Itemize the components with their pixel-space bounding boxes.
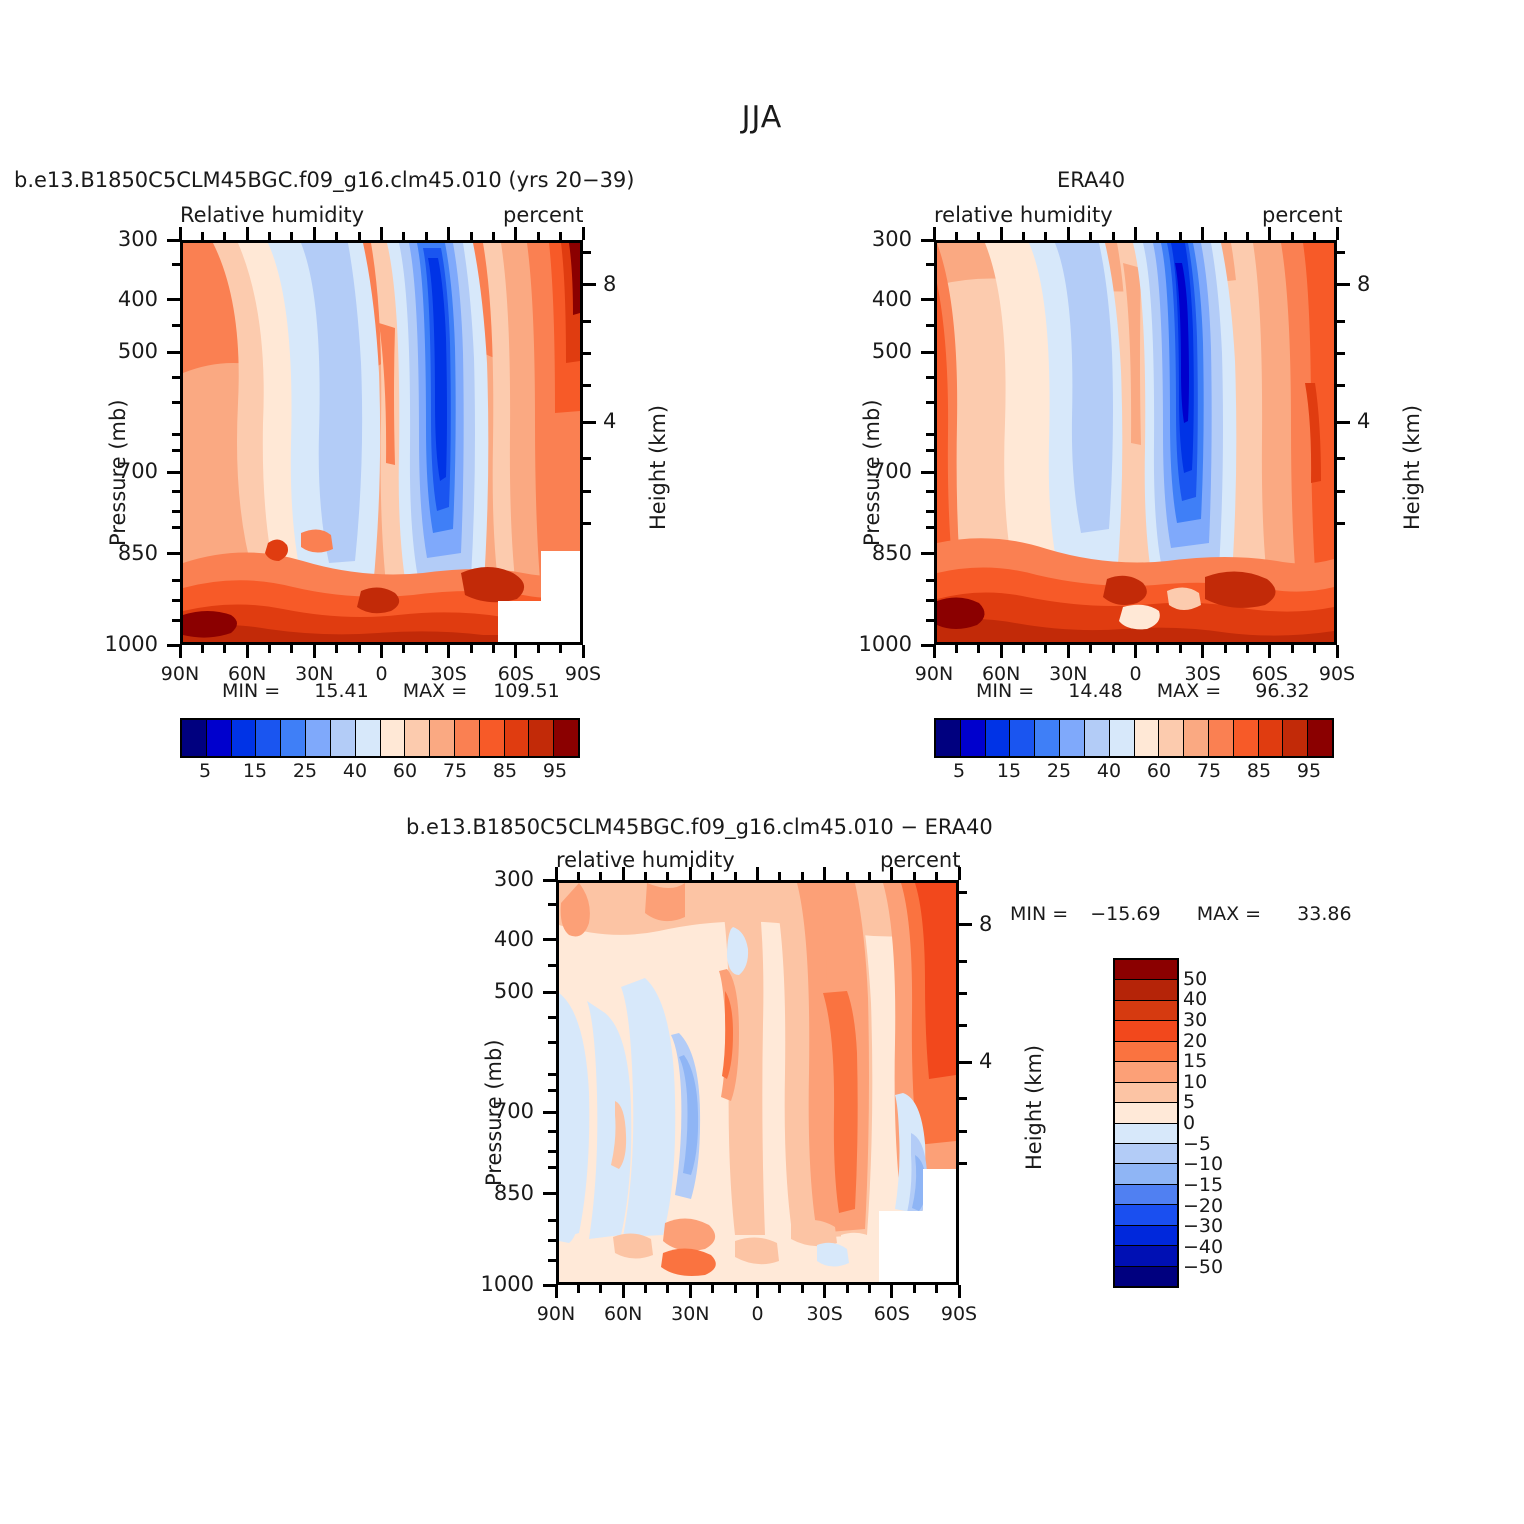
diff-colorbar-tick-label: −5 bbox=[1183, 1133, 1211, 1155]
diff-xtick-minor bbox=[778, 872, 781, 880]
obs-ytick-minor bbox=[926, 510, 934, 513]
obs-contour-field bbox=[937, 243, 1334, 642]
model-plot-area bbox=[180, 240, 583, 645]
model-ytick-minor bbox=[172, 449, 180, 452]
diff-ytick-minor bbox=[548, 1219, 556, 1222]
obs-xtick-major bbox=[1201, 227, 1204, 240]
model-xtick-major bbox=[514, 645, 517, 658]
obs-xtick-minor bbox=[1246, 645, 1249, 653]
model-xtick-minor bbox=[223, 645, 226, 653]
obs-colorbar-swatch bbox=[1085, 720, 1110, 756]
model-xtick-minor bbox=[268, 232, 271, 240]
model-xtick-major bbox=[514, 227, 517, 240]
model-xtick-minor bbox=[268, 645, 271, 653]
diff-xtick-major bbox=[958, 1285, 961, 1298]
model-xtick-minor bbox=[201, 645, 204, 653]
diff-ytick-label: 1000 bbox=[446, 1272, 534, 1296]
diff-xtick-minor bbox=[734, 1285, 737, 1293]
obs-ytick-major bbox=[921, 644, 934, 647]
diff-ytick-major bbox=[543, 938, 556, 941]
obs-y2tick-minor bbox=[1337, 457, 1345, 460]
obs-ytick-label: 400 bbox=[824, 287, 912, 311]
model-xtick-minor bbox=[537, 232, 540, 240]
diff-y2tick-minor bbox=[959, 992, 967, 995]
obs-y2tick bbox=[1337, 421, 1350, 424]
model-colorbar-swatch bbox=[554, 720, 578, 756]
diff-max-label: MAX = bbox=[1197, 903, 1261, 925]
diff-colorbar-swatch bbox=[1115, 1226, 1177, 1246]
obs-xtick-major bbox=[1000, 645, 1003, 658]
diff-xtick-minor bbox=[599, 1285, 602, 1293]
obs-xtick-minor bbox=[1156, 232, 1159, 240]
obs-xtick-minor bbox=[1112, 232, 1115, 240]
obs-colorbar-swatch bbox=[1110, 720, 1135, 756]
diff-xtick-minor bbox=[913, 1285, 916, 1293]
obs-xtick-minor bbox=[977, 232, 980, 240]
obs-ytick-minor bbox=[926, 526, 934, 529]
diff-y2tick-label: 8 bbox=[979, 912, 992, 936]
obs-ytick-major bbox=[921, 351, 934, 354]
diff-ytick-minor bbox=[548, 1089, 556, 1092]
obs-xtick-major bbox=[1268, 645, 1271, 658]
model-colorbar-swatch bbox=[480, 720, 505, 756]
model-ytick-minor bbox=[172, 263, 180, 266]
obs-units-label: percent bbox=[1262, 203, 1342, 227]
obs-ytick-label: 700 bbox=[824, 459, 912, 483]
obs-colorbar-swatch bbox=[1308, 720, 1332, 756]
obs-colorbar-tick-label: 5 bbox=[953, 760, 965, 782]
model-ytick-label: 400 bbox=[70, 287, 158, 311]
model-ytick-minor bbox=[172, 579, 180, 582]
obs-ytick-minor bbox=[926, 324, 934, 327]
diff-ytick-major bbox=[543, 1284, 556, 1287]
model-colorbar[interactable] bbox=[180, 718, 580, 758]
model-ytick-minor bbox=[172, 376, 180, 379]
model-ytick-minor bbox=[172, 401, 180, 404]
diff-xtick-minor bbox=[666, 872, 669, 880]
model-xtick-major bbox=[447, 227, 450, 240]
model-ytick-major bbox=[167, 298, 180, 301]
model-colorbar-tick-label: 85 bbox=[493, 760, 517, 782]
model-xtick-major bbox=[380, 227, 383, 240]
model-ytick-minor bbox=[172, 526, 180, 529]
model-xtick-minor bbox=[470, 232, 473, 240]
diff-ytick-minor bbox=[548, 1073, 556, 1076]
model-colorbar-swatch bbox=[455, 720, 480, 756]
diff-xtick-minor bbox=[577, 1285, 580, 1293]
obs-y2tick-label: 4 bbox=[1357, 409, 1370, 433]
diff-colorbar-tick-label: 30 bbox=[1183, 1009, 1207, 1031]
obs-variable-label: relative humidity bbox=[934, 203, 1113, 227]
model-ytick-major bbox=[167, 351, 180, 354]
model-ytick-major bbox=[167, 239, 180, 242]
model-xtick-minor bbox=[402, 232, 405, 240]
model-colorbar-swatch bbox=[381, 720, 406, 756]
model-ytick-label: 850 bbox=[70, 541, 158, 565]
model-xtick-minor bbox=[537, 645, 540, 653]
diff-colorbar-swatch bbox=[1115, 980, 1177, 1000]
obs-xtick-major bbox=[1336, 645, 1339, 658]
obs-xtick-major bbox=[1000, 227, 1003, 240]
diff-plot-area bbox=[556, 880, 959, 1285]
diff-y2tick-minor bbox=[959, 960, 967, 963]
obs-y2tick-minor bbox=[1337, 352, 1345, 355]
model-ytick-major bbox=[167, 471, 180, 474]
diff-colorbar-tick-label: 40 bbox=[1183, 988, 1207, 1010]
diff-xtick-major bbox=[689, 867, 692, 880]
obs-ytick-minor bbox=[926, 490, 934, 493]
model-ytick-major bbox=[167, 552, 180, 555]
diff-y2tick bbox=[959, 1061, 972, 1064]
diff-xtick-major bbox=[756, 867, 759, 880]
model-colorbar-tick-label: 15 bbox=[243, 760, 267, 782]
diff-ytick-minor bbox=[548, 1150, 556, 1153]
diff-colorbar-labels: 50403020151050−5−10−15−20−30−40−50 bbox=[1183, 958, 1263, 1284]
model-xtick-minor bbox=[358, 232, 361, 240]
model-xtick-major bbox=[447, 645, 450, 658]
diff-colorbar-swatch bbox=[1115, 1042, 1177, 1062]
diff-y2tick bbox=[959, 923, 972, 926]
model-xtick-minor bbox=[290, 232, 293, 240]
diff-colorbar-swatch bbox=[1115, 1246, 1177, 1266]
obs-xtick-minor bbox=[1313, 232, 1316, 240]
diff-colorbar-swatch bbox=[1115, 1185, 1177, 1205]
model-xtick-minor bbox=[201, 232, 204, 240]
diff-ytick-minor bbox=[548, 1259, 556, 1262]
model-y2tick-minor bbox=[583, 320, 591, 323]
obs-xtick-minor bbox=[1291, 232, 1294, 240]
model-y2tick-label: 8 bbox=[603, 272, 616, 296]
model-xtick-major bbox=[246, 227, 249, 240]
diff-y2tick-minor bbox=[959, 1130, 967, 1133]
model-y2tick-minor bbox=[583, 457, 591, 460]
diff-ytick-minor bbox=[548, 964, 556, 967]
diff-ytick-minor bbox=[548, 1239, 556, 1242]
model-colorbar-swatch bbox=[232, 720, 257, 756]
obs-ytick-major bbox=[921, 239, 934, 242]
model-colorbar-swatch bbox=[430, 720, 455, 756]
obs-xtick-minor bbox=[1156, 645, 1159, 653]
model-xtick-major bbox=[179, 645, 182, 658]
diff-xtick-minor bbox=[599, 872, 602, 880]
diff-colorbar-tick-label: −15 bbox=[1183, 1174, 1223, 1196]
model-ytick-label: 500 bbox=[70, 339, 158, 363]
diff-y2tick-minor bbox=[959, 1162, 967, 1165]
diff-xtick-minor bbox=[846, 1285, 849, 1293]
model-ytick-major bbox=[167, 644, 180, 647]
diff-ytick-major bbox=[543, 991, 556, 994]
obs-xtick-minor bbox=[1179, 645, 1182, 653]
model-y2tick-minor bbox=[583, 251, 591, 254]
diff-minmax: MIN = −15.69 MAX = 33.86 bbox=[1010, 903, 1352, 925]
obs-xtick-minor bbox=[1044, 232, 1047, 240]
model-ytick-label: 1000 bbox=[70, 632, 158, 656]
model-colorbar-swatch bbox=[356, 720, 381, 756]
diff-colorbar-tick-label: −10 bbox=[1183, 1153, 1223, 1175]
model-ytick-minor bbox=[172, 599, 180, 602]
obs-ytick-major bbox=[921, 471, 934, 474]
model-panel-title: b.e13.B1850C5CLM45BGC.f09_g16.clm45.010 … bbox=[14, 168, 634, 192]
model-y2-axis-title: Height (km) bbox=[646, 405, 670, 530]
obs-xtick-major bbox=[933, 645, 936, 658]
model-y2tick-label: 4 bbox=[603, 409, 616, 433]
model-xtick-minor bbox=[559, 232, 562, 240]
diff-colorbar-tick-label: −50 bbox=[1183, 1256, 1223, 1278]
diff-xtick-minor bbox=[644, 1285, 647, 1293]
model-colorbar-labels: 515254060758595 bbox=[180, 760, 580, 786]
obs-y2tick-minor bbox=[1337, 490, 1345, 493]
obs-xtick-minor bbox=[1089, 232, 1092, 240]
diff-xtick-minor bbox=[868, 872, 871, 880]
obs-xtick-minor bbox=[1224, 232, 1227, 240]
diff-xtick-major bbox=[756, 1285, 759, 1298]
diff-ytick-major bbox=[543, 1111, 556, 1114]
diff-colorbar-swatch bbox=[1115, 1083, 1177, 1103]
diff-ytick-label: 400 bbox=[446, 927, 534, 951]
model-colorbar-swatch bbox=[281, 720, 306, 756]
model-colorbar-swatch bbox=[306, 720, 331, 756]
model-ytick-minor bbox=[172, 619, 180, 622]
model-xtick-minor bbox=[402, 645, 405, 653]
diff-panel-title: b.e13.B1850C5CLM45BGC.f09_g16.clm45.010 … bbox=[406, 815, 993, 839]
obs-y2tick bbox=[1337, 283, 1350, 286]
model-xtick-major bbox=[582, 227, 585, 240]
diff-ytick-label: 300 bbox=[446, 867, 534, 891]
model-xtick-major bbox=[582, 645, 585, 658]
diff-y2tick-minor bbox=[959, 1097, 967, 1100]
obs-colorbar-swatch bbox=[1209, 720, 1234, 756]
obs-ytick-label: 1000 bbox=[824, 632, 912, 656]
obs-ytick-label: 500 bbox=[824, 339, 912, 363]
diff-y2tick-label: 4 bbox=[979, 1049, 992, 1073]
model-colorbar-tick-label: 75 bbox=[443, 760, 467, 782]
diff-xtick-major bbox=[823, 867, 826, 880]
diff-colorbar-tick-label: 5 bbox=[1183, 1091, 1195, 1113]
diff-colorbar-tick-label: −20 bbox=[1183, 1195, 1223, 1217]
diff-y2tick-minor bbox=[959, 1024, 967, 1027]
obs-colorbar-tick-label: 60 bbox=[1147, 760, 1171, 782]
obs-ytick-label: 300 bbox=[824, 227, 912, 251]
diff-xtick-major bbox=[689, 1285, 692, 1298]
obs-plot-area bbox=[934, 240, 1337, 645]
diff-min-value: −15.69 bbox=[1090, 903, 1160, 925]
diff-colorbar-swatch bbox=[1115, 1062, 1177, 1082]
obs-ytick-label: 850 bbox=[824, 541, 912, 565]
obs-xtick-minor bbox=[1022, 232, 1025, 240]
obs-ytick-minor bbox=[926, 619, 934, 622]
diff-colorbar-swatch bbox=[1115, 1144, 1177, 1164]
model-xtick-minor bbox=[559, 645, 562, 653]
model-y2tick-minor bbox=[583, 352, 591, 355]
model-colorbar-tick-label: 5 bbox=[199, 760, 211, 782]
obs-xtick-label: 90S bbox=[1297, 663, 1377, 685]
diff-xtick-major bbox=[890, 1285, 893, 1298]
model-y2tick bbox=[583, 283, 596, 286]
obs-xtick-minor bbox=[1246, 232, 1249, 240]
model-xtick-minor bbox=[335, 232, 338, 240]
obs-colorbar-swatch bbox=[1060, 720, 1085, 756]
diff-ytick-minor bbox=[548, 1166, 556, 1169]
model-xtick-minor bbox=[470, 645, 473, 653]
model-colorbar-swatch bbox=[256, 720, 281, 756]
diff-xtick-minor bbox=[734, 872, 737, 880]
diff-xtick-minor bbox=[935, 1285, 938, 1293]
obs-colorbar-tick-label: 25 bbox=[1047, 760, 1071, 782]
diff-min-label: MIN = bbox=[1010, 903, 1068, 925]
model-colorbar-tick-label: 25 bbox=[293, 760, 317, 782]
model-y2tick-minor bbox=[583, 490, 591, 493]
model-units-label: percent bbox=[503, 203, 583, 227]
model-colorbar-swatch bbox=[182, 720, 207, 756]
diff-xtick-major bbox=[622, 867, 625, 880]
obs-ytick-minor bbox=[926, 599, 934, 602]
model-contour-field bbox=[183, 243, 580, 642]
diff-colorbar[interactable] bbox=[1113, 958, 1179, 1288]
obs-xtick-minor bbox=[1044, 645, 1047, 653]
diff-xtick-minor bbox=[846, 872, 849, 880]
diff-ytick-minor bbox=[548, 1041, 556, 1044]
obs-colorbar-tick-label: 40 bbox=[1097, 760, 1121, 782]
obs-colorbar-labels: 515254060758595 bbox=[934, 760, 1334, 786]
diff-colorbar-swatch bbox=[1115, 1103, 1177, 1123]
model-xtick-minor bbox=[290, 645, 293, 653]
model-ytick-label: 300 bbox=[70, 227, 158, 251]
obs-colorbar-tick-label: 15 bbox=[997, 760, 1021, 782]
obs-colorbar-swatch bbox=[1035, 720, 1060, 756]
model-xtick-minor bbox=[425, 232, 428, 240]
diff-xtick-minor bbox=[778, 1285, 781, 1293]
diff-ytick-major bbox=[543, 879, 556, 882]
model-y2tick-minor bbox=[583, 384, 591, 387]
obs-xtick-minor bbox=[1089, 645, 1092, 653]
diff-xtick-minor bbox=[666, 1285, 669, 1293]
diff-colorbar-tick-label: 0 bbox=[1183, 1112, 1195, 1134]
diff-xtick-minor bbox=[801, 872, 804, 880]
model-ytick-label: 700 bbox=[70, 459, 158, 483]
obs-colorbar-swatch bbox=[1259, 720, 1284, 756]
season-title: JJA bbox=[0, 100, 1524, 135]
diff-y2tick-minor bbox=[959, 891, 967, 894]
model-xtick-minor bbox=[425, 645, 428, 653]
obs-colorbar-swatch bbox=[1234, 720, 1259, 756]
diff-ytick-minor bbox=[548, 903, 556, 906]
model-y2tick-minor bbox=[583, 522, 591, 525]
model-colorbar-tick-label: 40 bbox=[343, 760, 367, 782]
diff-ytick-label: 700 bbox=[446, 1099, 534, 1123]
obs-ytick-minor bbox=[926, 579, 934, 582]
obs-ytick-minor bbox=[926, 376, 934, 379]
obs-xtick-major bbox=[1268, 227, 1271, 240]
diff-xtick-minor bbox=[935, 872, 938, 880]
obs-y2tick-minor bbox=[1337, 522, 1345, 525]
obs-y2-axis-title: Height (km) bbox=[1400, 405, 1424, 530]
model-xtick-major bbox=[313, 645, 316, 658]
diff-colorbar-tick-label: 50 bbox=[1183, 968, 1207, 990]
model-xtick-minor bbox=[492, 645, 495, 653]
obs-xtick-major bbox=[1134, 227, 1137, 240]
obs-colorbar-swatch bbox=[1159, 720, 1184, 756]
model-xtick-minor bbox=[492, 232, 495, 240]
obs-colorbar-swatch bbox=[1184, 720, 1209, 756]
obs-colorbar-tick-label: 85 bbox=[1247, 760, 1271, 782]
obs-xtick-minor bbox=[955, 232, 958, 240]
diff-xtick-minor bbox=[577, 872, 580, 880]
diff-colorbar-swatch bbox=[1115, 1205, 1177, 1225]
model-xtick-label: 90S bbox=[543, 663, 623, 685]
diff-ytick-label: 850 bbox=[446, 1181, 534, 1205]
obs-colorbar-swatch bbox=[936, 720, 961, 756]
model-xtick-major bbox=[313, 227, 316, 240]
diff-colorbar-swatch bbox=[1115, 1001, 1177, 1021]
diff-xtick-label: 90S bbox=[919, 1303, 999, 1325]
diff-xtick-major bbox=[890, 867, 893, 880]
model-xtick-major bbox=[380, 645, 383, 658]
diff-xtick-minor bbox=[644, 872, 647, 880]
obs-ytick-major bbox=[921, 552, 934, 555]
obs-xtick-minor bbox=[1291, 645, 1294, 653]
diff-ytick-minor bbox=[548, 1016, 556, 1019]
diff-y2-axis-title: Height (km) bbox=[1022, 1045, 1046, 1170]
model-colorbar-swatch bbox=[529, 720, 554, 756]
obs-xtick-major bbox=[1067, 227, 1070, 240]
model-ytick-minor bbox=[172, 490, 180, 493]
diff-colorbar-swatch bbox=[1115, 1267, 1177, 1286]
obs-xtick-minor bbox=[955, 645, 958, 653]
model-xtick-minor bbox=[358, 645, 361, 653]
obs-xtick-minor bbox=[977, 645, 980, 653]
obs-ytick-major bbox=[921, 298, 934, 301]
model-xtick-minor bbox=[223, 232, 226, 240]
obs-colorbar[interactable] bbox=[934, 718, 1334, 758]
obs-panel-title: ERA40 bbox=[1057, 168, 1125, 192]
model-xtick-minor bbox=[335, 645, 338, 653]
diff-colorbar-tick-label: 20 bbox=[1183, 1030, 1207, 1052]
obs-colorbar-swatch bbox=[986, 720, 1011, 756]
diff-colorbar-swatch bbox=[1115, 1021, 1177, 1041]
diff-contour-field bbox=[559, 883, 956, 1282]
model-ytick-minor bbox=[172, 510, 180, 513]
obs-colorbar-swatch bbox=[961, 720, 986, 756]
diff-xtick-minor bbox=[913, 872, 916, 880]
obs-y2tick-label: 8 bbox=[1357, 272, 1370, 296]
diff-colorbar-tick-label: 10 bbox=[1183, 1071, 1207, 1093]
obs-xtick-major bbox=[1067, 645, 1070, 658]
model-colorbar-swatch bbox=[505, 720, 530, 756]
obs-ytick-minor bbox=[926, 449, 934, 452]
diff-colorbar-tick-label: −40 bbox=[1183, 1236, 1223, 1258]
model-y2tick bbox=[583, 421, 596, 424]
obs-xtick-major bbox=[1201, 645, 1204, 658]
diff-ytick-major bbox=[543, 1192, 556, 1195]
obs-ytick-minor bbox=[926, 433, 934, 436]
diff-xtick-major bbox=[622, 1285, 625, 1298]
diff-xtick-major bbox=[823, 1285, 826, 1298]
obs-y2tick-minor bbox=[1337, 384, 1345, 387]
diff-colorbar-tick-label: −30 bbox=[1183, 1215, 1223, 1237]
diff-max-value: 33.86 bbox=[1297, 903, 1351, 925]
diff-xtick-major bbox=[555, 1285, 558, 1298]
diff-variable-label: relative humidity bbox=[556, 848, 735, 872]
model-colorbar-swatch bbox=[405, 720, 430, 756]
diff-xtick-major bbox=[958, 867, 961, 880]
obs-colorbar-tick-label: 75 bbox=[1197, 760, 1221, 782]
obs-ytick-minor bbox=[926, 263, 934, 266]
model-variable-label: Relative humidity bbox=[180, 203, 364, 227]
diff-colorbar-swatch bbox=[1115, 1124, 1177, 1144]
diff-xtick-minor bbox=[711, 872, 714, 880]
diff-colorbar-swatch bbox=[1115, 960, 1177, 980]
model-xtick-major bbox=[246, 645, 249, 658]
